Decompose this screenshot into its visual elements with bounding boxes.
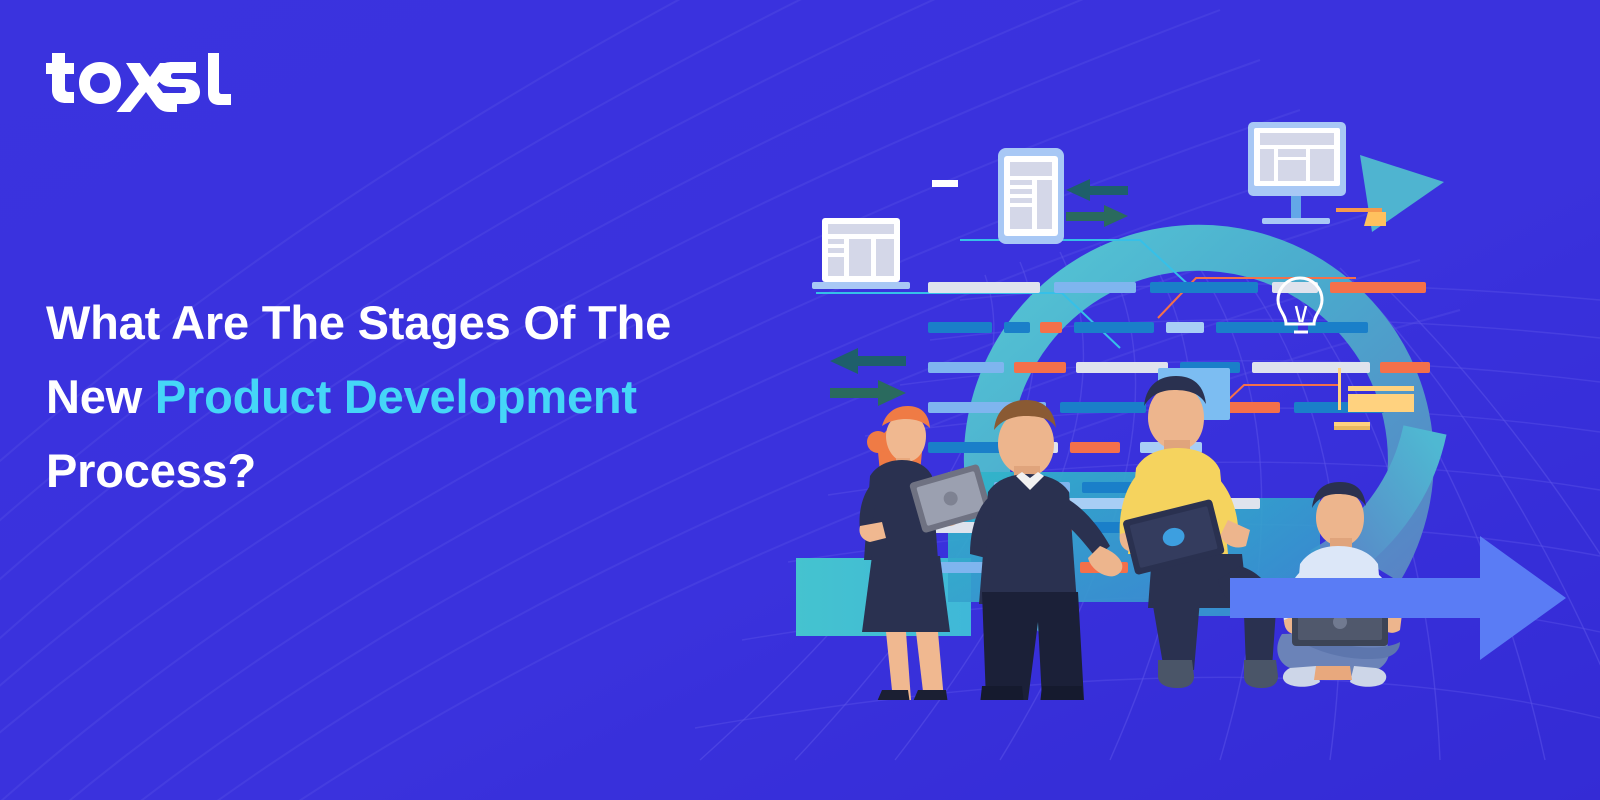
banner-root: toXSL What Are The Stages Of The New Pro… bbox=[0, 0, 1600, 800]
headline-line-3: Process? bbox=[46, 444, 256, 497]
desktop-monitor bbox=[1248, 122, 1346, 224]
tablet-device bbox=[998, 148, 1064, 244]
product-development-cycle-illustration bbox=[760, 100, 1600, 700]
toxsl-logo[interactable]: toXSL bbox=[44, 44, 234, 112]
headline-highlight: Product Development bbox=[155, 370, 637, 423]
headline-line-1: What Are The Stages Of The bbox=[46, 296, 671, 349]
orange-accent-shapes bbox=[1336, 208, 1386, 226]
headline-line-2-prefix: New bbox=[46, 370, 155, 423]
exchange-arrows-top bbox=[1066, 179, 1128, 227]
exchange-arrows-left bbox=[830, 348, 906, 406]
page-title: What Are The Stages Of The New Product D… bbox=[46, 286, 786, 508]
tablet-label-bar bbox=[932, 180, 958, 187]
laptop-device bbox=[812, 218, 910, 289]
